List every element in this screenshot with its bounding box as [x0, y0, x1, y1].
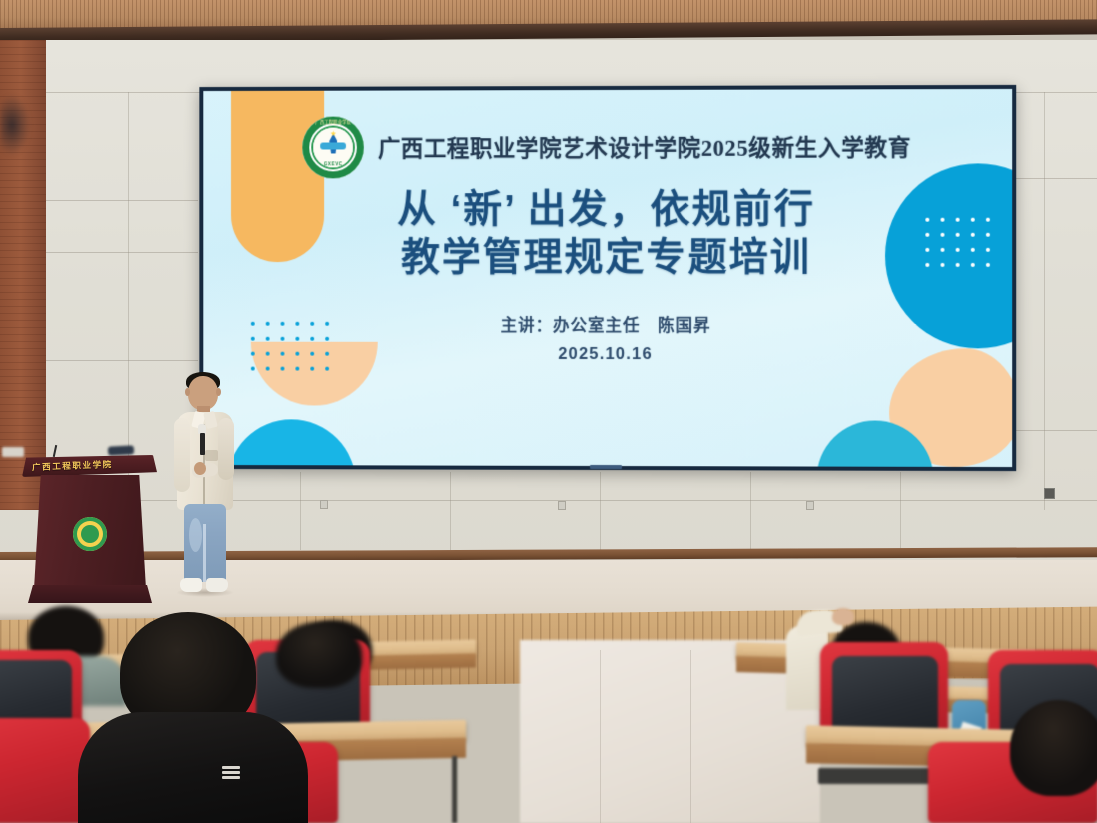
presenter-arm-left	[174, 418, 190, 492]
wall-seam	[46, 200, 198, 201]
college-emblem-logo: 广西工程职业学院 GXEVC	[303, 117, 365, 179]
emblem-ring-text-bottom: GXEVC	[303, 161, 365, 166]
slide-title-line-2: 教学管理规定专题培训	[203, 234, 1012, 282]
wall-seam	[300, 472, 301, 550]
decoration-dot	[295, 337, 299, 341]
shirt-graphic-bar	[222, 766, 240, 769]
emblem-wing-icon	[320, 142, 346, 149]
lecture-hall-scene: 广西工程职业学院 GXEVC 广西工程职业学院艺术设计学院2025级新生入学教育…	[0, 0, 1097, 823]
shirt-graphic-bar	[222, 776, 240, 779]
presenter-ear-right	[216, 388, 221, 396]
wall-seam	[1012, 430, 1097, 431]
presenter-arm-right	[218, 418, 234, 480]
wall-seam	[450, 472, 451, 550]
slide-content: 广西工程职业学院 GXEVC 广西工程职业学院艺术设计学院2025级新生入学教育…	[203, 89, 1012, 467]
podium-body	[34, 475, 146, 589]
wall-seam	[900, 472, 901, 550]
decoration-dot	[266, 367, 270, 371]
decoration-dot	[251, 337, 255, 341]
podium-base	[28, 585, 152, 603]
decoration-dot	[281, 367, 285, 371]
wall-seam	[600, 472, 601, 550]
wall-seam	[1044, 92, 1045, 510]
decoration-dot	[325, 337, 329, 341]
decoration-dot	[251, 367, 255, 371]
slide-date-text: 2025.10.16	[203, 345, 1012, 365]
microphone-body	[200, 433, 205, 455]
wall-seam	[46, 252, 198, 253]
presenter-jeans-highlight	[189, 518, 202, 552]
presenter-shoe-right	[206, 578, 228, 592]
shirt-graphic-bar	[222, 771, 240, 774]
decoration-cyan-circle	[227, 419, 356, 467]
presenter-shoe-left	[180, 578, 202, 592]
audience-head-front-right	[1010, 700, 1097, 796]
podium-microphone	[108, 445, 134, 455]
presenter-head	[188, 376, 218, 410]
screen-bezel-badge	[590, 465, 622, 469]
power-outlet	[806, 501, 814, 510]
wall-seam	[46, 360, 198, 361]
decoration-dot	[281, 337, 285, 341]
floor-tile-line	[600, 650, 601, 823]
desk-leg	[452, 756, 457, 823]
audience-body-black-shirt	[78, 712, 308, 823]
slide-title-line-1: 从 ‘新’ 出发，依规前行	[203, 185, 1012, 234]
audience-head-mid-left	[276, 622, 362, 688]
podium-emblem	[73, 517, 107, 551]
decoration-dot	[295, 367, 299, 371]
presenter-hand	[194, 462, 206, 475]
presenter-person	[174, 372, 236, 606]
presenter-jeans-gap	[203, 524, 206, 582]
decoration-dot	[310, 367, 314, 371]
desk-shelf-item	[818, 768, 938, 784]
column-shadow	[0, 95, 30, 155]
shirt-graphic-icon	[222, 762, 240, 782]
slide-header: 广西工程职业学院 GXEVC 广西工程职业学院艺术设计学院2025级新生入学教育	[203, 115, 1012, 178]
microphone-icon	[198, 424, 206, 454]
power-outlet	[1044, 488, 1055, 499]
slide-subheader-text: 广西工程职业学院艺术设计学院2025级新生入学教育	[378, 130, 911, 163]
presenter-shirt-pocket	[205, 450, 218, 461]
slide-speaker-text: 主讲：办公室主任 陈国昇	[203, 312, 1012, 337]
decoration-dot	[310, 337, 314, 341]
power-outlet	[320, 500, 328, 509]
power-outlet	[558, 501, 566, 510]
emblem-ring-text-top: 广西工程职业学院	[303, 120, 365, 126]
podium-side-items	[2, 447, 24, 457]
chair-row1-left[interactable]	[0, 718, 90, 823]
lectern-podium[interactable]: 广西工程职业学院	[22, 455, 157, 607]
decoration-dot	[325, 367, 329, 371]
podium-emblem-center	[81, 525, 99, 543]
wall-seam	[1012, 178, 1097, 179]
floor-tile-line	[690, 650, 691, 823]
slide-title-block: 从 ‘新’ 出发，依规前行 教学管理规定专题培训	[203, 185, 1012, 281]
presenter-ear-left	[185, 388, 190, 396]
presentation-screen[interactable]: 广西工程职业学院 GXEVC 广西工程职业学院艺术设计学院2025级新生入学教育…	[199, 85, 1016, 471]
decoration-dot	[266, 337, 270, 341]
arm-raiser-hand	[832, 608, 854, 625]
wall-seam	[750, 472, 751, 550]
